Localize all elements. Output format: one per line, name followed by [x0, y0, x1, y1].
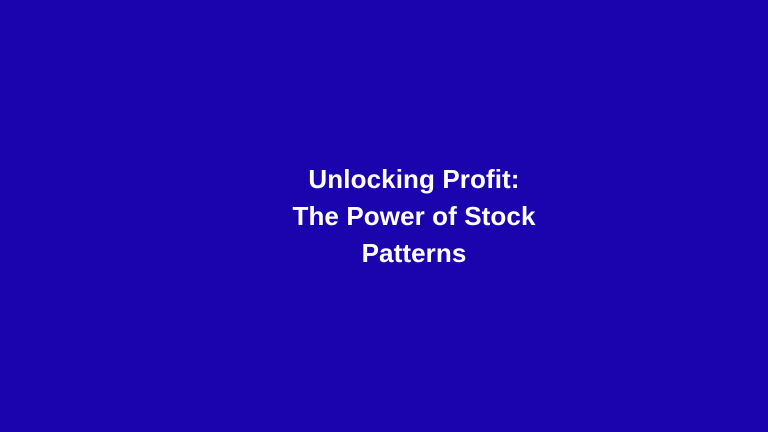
title-line-2: The Power of Stock — [292, 198, 535, 235]
title-slide: Unlocking Profit: The Power of Stock Pat… — [0, 0, 768, 432]
title-line-1: Unlocking Profit: — [308, 161, 519, 198]
page-title: Unlocking Profit: The Power of Stock Pat… — [0, 0, 768, 432]
title-line-3: Patterns — [362, 235, 467, 272]
